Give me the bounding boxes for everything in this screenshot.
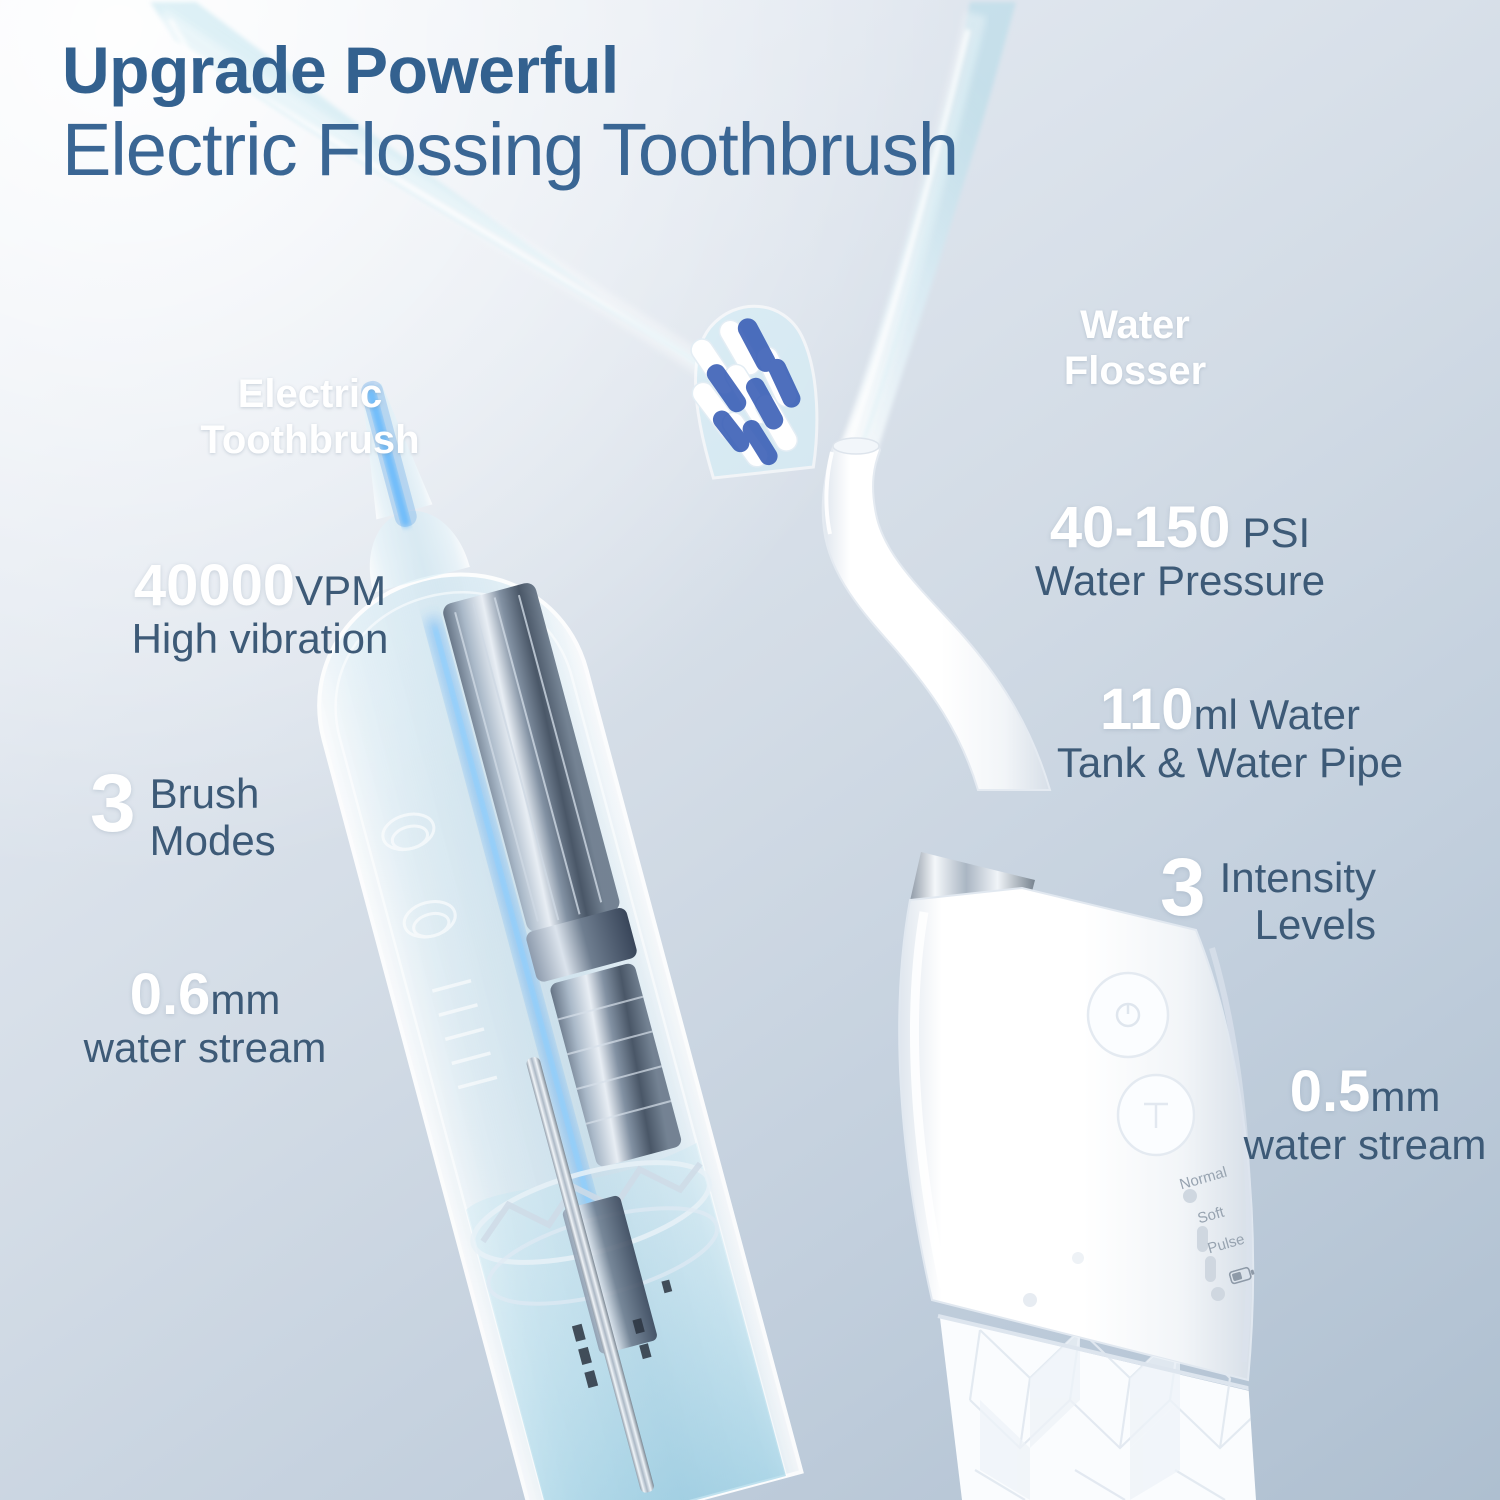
- spec-tank-unit: ml Water: [1194, 691, 1360, 739]
- battery-icon: [1228, 1265, 1258, 1290]
- spec-tank-value: 110: [1100, 680, 1194, 739]
- spec-levels-label2: Levels: [1220, 901, 1376, 948]
- spec-levels-label1: Intensity: [1220, 854, 1376, 901]
- mode-label-soft: Soft: [1196, 1205, 1226, 1227]
- spec-brush-modes: 3 Brush Modes: [90, 766, 390, 864]
- spec-vpm-value: 40000: [134, 556, 295, 615]
- spec-psi-value: 40-150: [1050, 498, 1231, 557]
- spec-vpm-unit: VPM: [295, 567, 386, 615]
- spec-tank-sub: Tank & Water Pipe: [1020, 739, 1440, 786]
- headline-block: Upgrade Powerful Electric Flossing Tooth…: [62, 36, 958, 191]
- spec-stream1-unit: mm: [210, 976, 280, 1024]
- spec-stream2-unit: mm: [1370, 1073, 1440, 1121]
- spec-modes-value: 3: [90, 766, 136, 841]
- spec-stream-toothbrush: 0.6 mm water stream: [40, 965, 370, 1071]
- category-label-electric-toothbrush: Electric Toothbrush: [150, 372, 470, 463]
- headline-line1: Upgrade Powerful: [62, 36, 958, 105]
- headline-line2: Electric Flossing Toothbrush: [62, 109, 958, 190]
- spec-vpm-sub: High vibration: [60, 615, 460, 662]
- spec-psi-unit: PSI: [1242, 509, 1310, 557]
- spec-stream2-value: 0.5: [1290, 1062, 1371, 1121]
- spec-levels-value: 3: [1160, 850, 1206, 925]
- spec-stream1-sub: water stream: [40, 1024, 370, 1071]
- spec-vpm: 40000 VPM High vibration: [60, 556, 460, 662]
- spec-psi-sub: Water Pressure: [1000, 557, 1360, 604]
- spec-water-tank: 110 ml Water Tank & Water Pipe: [1020, 680, 1440, 786]
- mode-label-pulse: Pulse: [1206, 1232, 1246, 1257]
- spec-modes-label2: Modes: [150, 817, 276, 864]
- spec-intensity-levels: 3 Intensity Levels: [1160, 850, 1460, 948]
- spec-stream1-value: 0.6: [130, 965, 211, 1024]
- mode-label-normal: Normal: [1178, 1165, 1229, 1193]
- spec-modes-label1: Brush: [150, 770, 276, 817]
- spec-water-pressure: 40-150 PSI Water Pressure: [1000, 498, 1360, 604]
- spec-stream2-sub: water stream: [1240, 1121, 1490, 1168]
- spec-stream-flosser: 0.5 mm water stream: [1240, 1062, 1490, 1168]
- category-label-water-flosser: Water Flosser: [985, 303, 1285, 394]
